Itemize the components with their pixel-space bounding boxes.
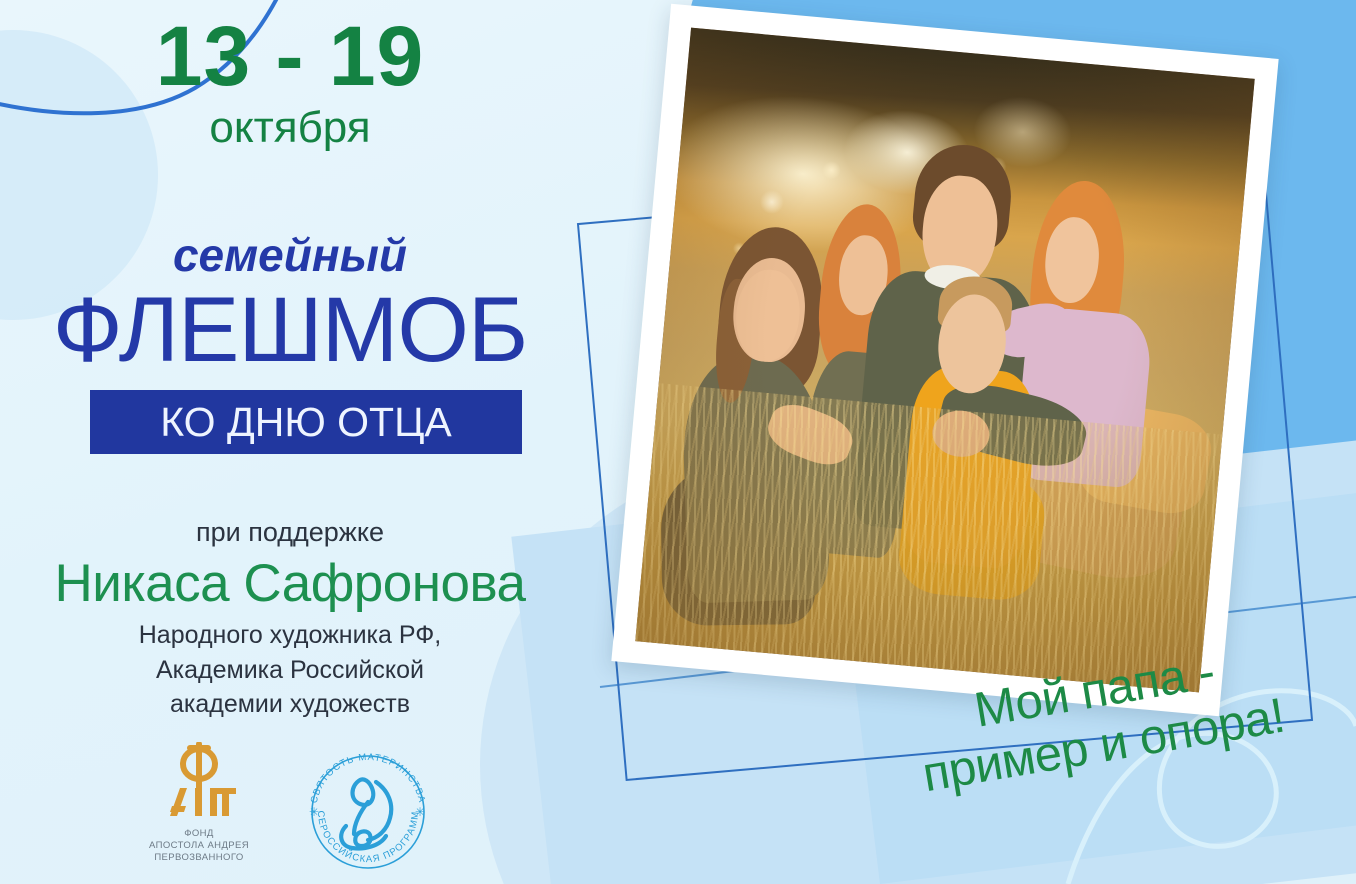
family-photo-frame	[611, 4, 1278, 717]
support-person-credentials: Народного художника РФ, Академика Россий…	[0, 618, 580, 722]
family-photo	[635, 28, 1255, 693]
poster-canvas: 13 - 19 октября семейный ФЛЕШМОБ КО ДНЮ …	[0, 0, 1356, 884]
logo-foundation-apostle-andrew: ФОНД АПОСТОЛА АНДРЕЯ ПЕРВОЗВАННОГО	[140, 742, 258, 864]
event-date-month: октября	[0, 102, 580, 155]
support-credential-line-3: академии художеств	[0, 687, 580, 722]
program-star-right: ✳	[415, 805, 425, 819]
photo-vignette	[635, 28, 1255, 693]
foundation-monogram-icon	[140, 742, 258, 820]
support-credential-line-2: Академика Российской	[0, 653, 580, 688]
foundation-caption-line-3: ПЕРВОЗВАННОГО	[140, 852, 258, 864]
svg-text:СВЯТОСТЬ МАТЕРИНСТВА: СВЯТОСТЬ МАТЕРИНСТВА	[309, 752, 427, 804]
title-kicker: семейный	[0, 228, 580, 282]
partner-logos: ФОНД АПОСТОЛА АНДРЕЯ ПЕРВОЗВАННОГО СВЯТО…	[140, 742, 470, 879]
event-date-block: 13 - 19 октября	[0, 14, 580, 155]
foundation-caption: ФОНД АПОСТОЛА АНДРЕЯ ПЕРВОЗВАННОГО	[140, 828, 258, 864]
support-credential-line-1: Народного художника РФ,	[0, 618, 580, 653]
foundation-caption-line-1: ФОНД	[140, 828, 258, 840]
motherhood-program-icon: СВЯТОСТЬ МАТЕРИНСТВА ВСЕРОССИЙСКАЯ ПРОГР…	[298, 742, 438, 874]
title-banner: КО ДНЮ ОТЦА	[90, 390, 522, 454]
logo-motherhood-program: СВЯТОСТЬ МАТЕРИНСТВА ВСЕРОССИЙСКАЯ ПРОГР…	[298, 742, 438, 879]
support-person-name: Никаса Сафронова	[0, 553, 580, 614]
event-date-range: 13 - 19	[0, 14, 580, 98]
foundation-caption-line-2: АПОСТОЛА АНДРЕЯ	[140, 840, 258, 852]
program-ring-text-top: СВЯТОСТЬ МАТЕРИНСТВА	[309, 752, 427, 804]
title-headline: ФЛЕШМОБ	[0, 280, 580, 381]
program-star-left: ✳	[309, 805, 319, 819]
title-banner-text: КО ДНЮ ОТЦА	[160, 399, 452, 446]
support-label: при поддержке	[0, 517, 580, 548]
